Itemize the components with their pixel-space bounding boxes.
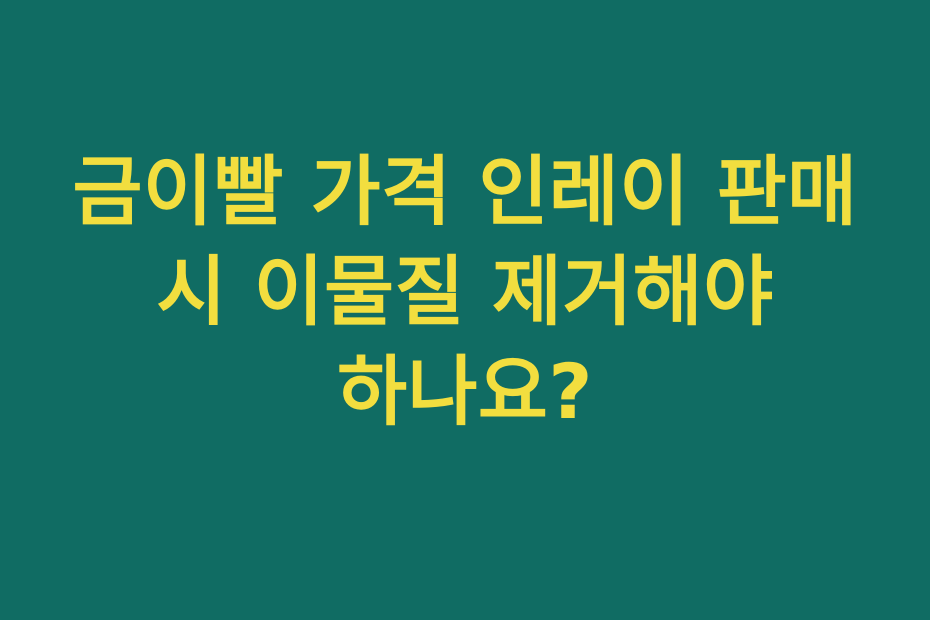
headline-block: 금이빨 가격 인레이 판매 시 이물질 제거해야 하나요? [55,142,875,443]
headline-text: 금이빨 가격 인레이 판매 시 이물질 제거해야 하나요? [55,142,875,443]
title-card: 금이빨 가격 인레이 판매 시 이물질 제거해야 하나요? [0,0,930,620]
